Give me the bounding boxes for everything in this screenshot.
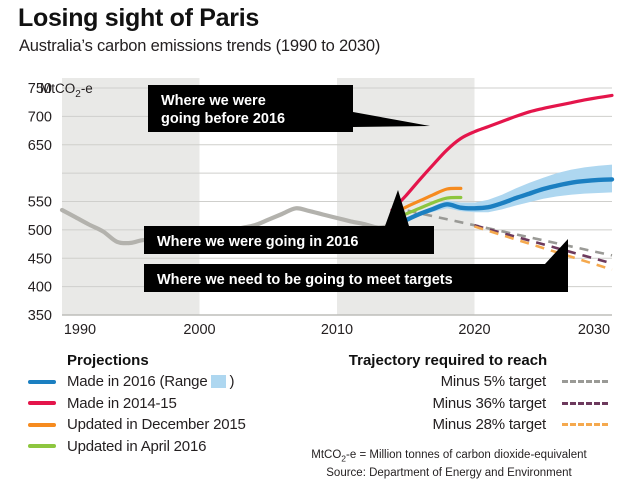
svg-text:400: 400 xyxy=(28,280,52,296)
legend-range-swatch xyxy=(211,375,226,388)
svg-text:2020: 2020 xyxy=(458,322,490,336)
svg-text:1990: 1990 xyxy=(64,322,96,336)
emissions-line-chart: 750700650550500450400350 199020002010202… xyxy=(0,78,617,336)
legend-projections: Projections Made in 2016 (Range)Made in … xyxy=(28,352,246,457)
svg-text:Where we were: Where we were xyxy=(161,93,266,109)
svg-text:350: 350 xyxy=(28,308,52,324)
svg-text:500: 500 xyxy=(28,223,52,239)
svg-text:650: 650 xyxy=(28,138,52,154)
chart-footnote: MtCO2-e = Million tonnes of carbon dioxi… xyxy=(288,448,610,480)
legend-trajectories-heading: Trajectory required to reach xyxy=(288,352,608,369)
svg-text:550: 550 xyxy=(28,195,52,211)
legend-item-label: Minus 5% target xyxy=(441,373,546,390)
legend-item-projection[interactable]: Updated in December 2015 xyxy=(28,414,246,436)
x-axis-ticks: 19902000201020202030 xyxy=(64,322,610,336)
legend-swatch-line xyxy=(28,444,56,448)
legend-swatch-dashed xyxy=(562,402,608,405)
legend-swatch-dashed xyxy=(562,380,608,383)
svg-text:2030: 2030 xyxy=(578,322,610,336)
legend-item-label: Made in 2014-15 xyxy=(67,395,177,412)
page-subtitle: Australia’s carbon emissions trends (199… xyxy=(19,37,380,56)
legend-item-projection[interactable]: Made in 2014-15 xyxy=(28,393,246,415)
svg-text:2010: 2010 xyxy=(321,322,353,336)
svg-text:450: 450 xyxy=(28,251,52,267)
legend-item-label: Updated in April 2016 xyxy=(67,438,206,455)
page-title: Losing sight of Paris xyxy=(18,4,259,33)
svg-text:Where we were going in 2016: Where we were going in 2016 xyxy=(157,234,358,250)
legend-item-projection[interactable]: Updated in April 2016 xyxy=(28,436,246,458)
legend-item-trajectory[interactable]: Minus 28% target xyxy=(288,414,608,436)
svg-text:700: 700 xyxy=(28,109,52,125)
legend-item-projection[interactable]: Made in 2016 (Range) xyxy=(28,371,246,393)
footnote-line-1: MtCO2-e = Million tonnes of carbon dioxi… xyxy=(288,448,610,466)
footnote-line-2: Source: Department of Energy and Environ… xyxy=(288,466,610,481)
y-axis-ticks: 750700650550500450400350 xyxy=(28,81,52,324)
svg-text:Where we need to be going to m: Where we need to be going to meet target… xyxy=(157,272,453,288)
legend-item-label: Minus 36% target xyxy=(432,395,546,412)
legend-swatch-line xyxy=(28,380,56,384)
chart-plot-area: 750700650550500450400350 199020002010202… xyxy=(0,78,617,336)
legend-item-trajectory[interactable]: Minus 36% target xyxy=(288,393,608,415)
chart-page: Losing sight of Paris Australia’s carbon… xyxy=(0,0,617,491)
legend-swatch-line xyxy=(28,401,56,405)
chart-legend: Projections Made in 2016 (Range)Made in … xyxy=(0,352,617,491)
legend-projections-heading: Projections xyxy=(67,352,246,369)
legend-swatch-dashed xyxy=(562,423,608,426)
legend-item-label: Made in 2016 (Range) xyxy=(67,373,234,390)
svg-text:going before 2016: going before 2016 xyxy=(161,111,285,127)
legend-item-label: Minus 28% target xyxy=(432,416,546,433)
legend-item-trajectory[interactable]: Minus 5% target xyxy=(288,371,608,393)
svg-text:2000: 2000 xyxy=(183,322,215,336)
legend-swatch-line xyxy=(28,423,56,427)
legend-trajectories: Trajectory required to reach Minus 5% ta… xyxy=(288,352,608,436)
legend-item-label: Updated in December 2015 xyxy=(67,416,246,433)
